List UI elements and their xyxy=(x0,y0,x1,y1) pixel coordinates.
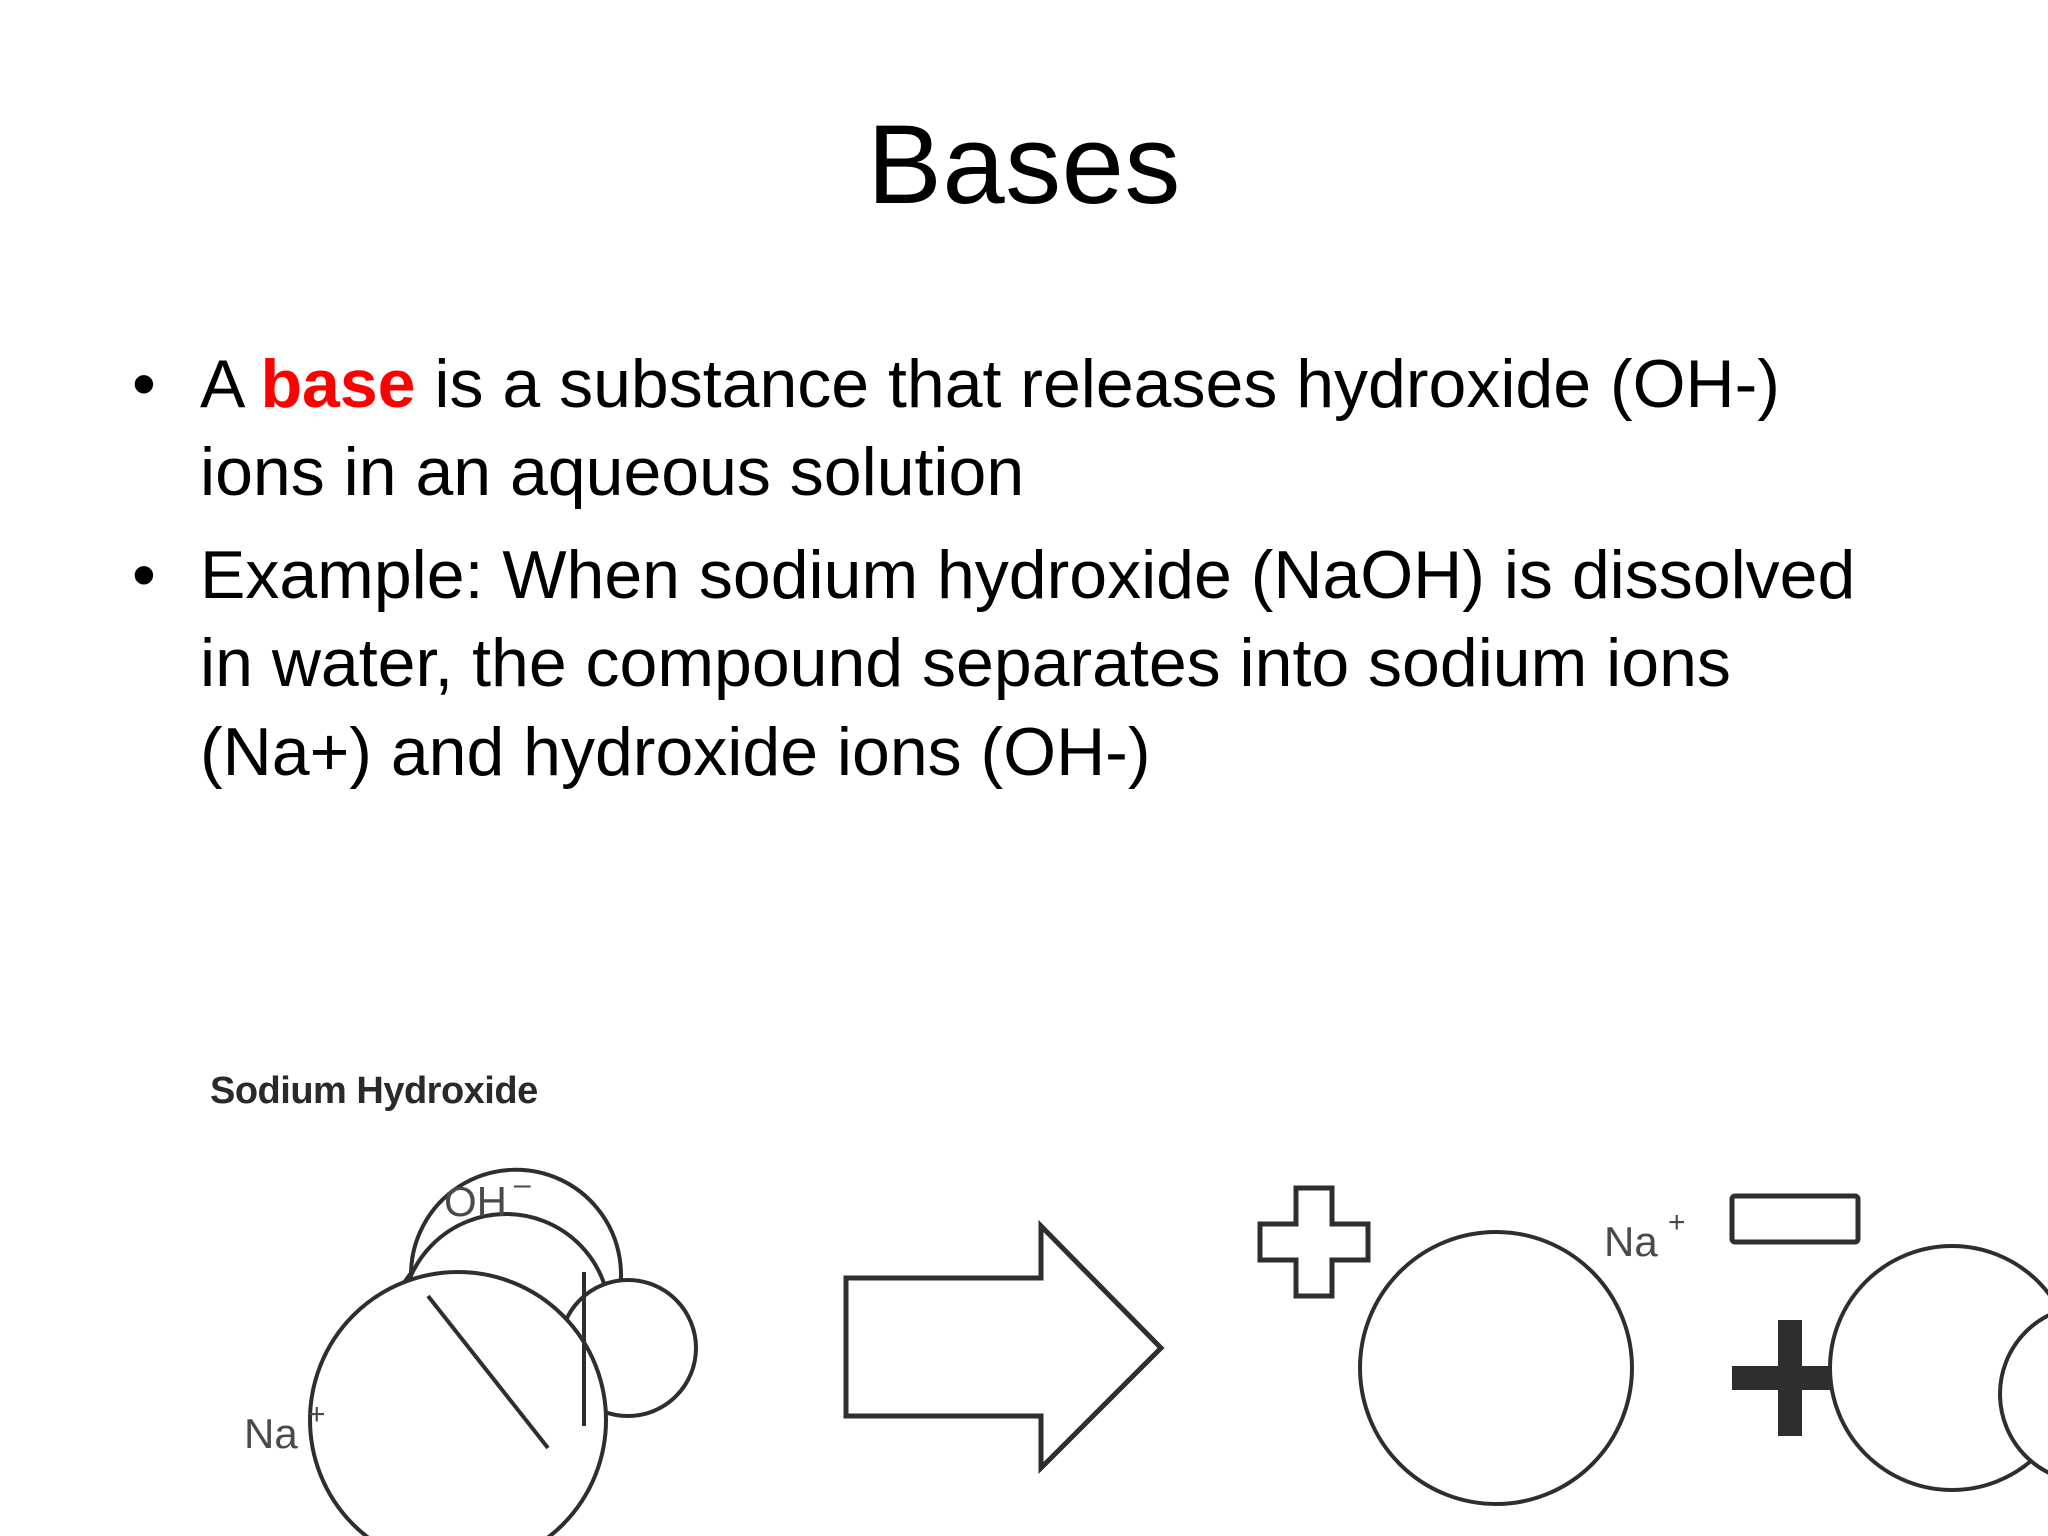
page-title: Bases xyxy=(0,108,2048,222)
bullet-list: • A base is a substance that releases hy… xyxy=(118,340,1948,810)
slide-bases: Bases • A base is a substance that relea… xyxy=(0,0,2048,1536)
na-label-product: Na xyxy=(1604,1218,1658,1265)
oh-charge-reactant: – xyxy=(514,1168,531,1201)
list-item: • Example: When sodium hydroxide (NaOH) … xyxy=(118,531,1948,796)
bullet-segment-highlight: base xyxy=(261,346,416,422)
bullet-text: A base is a substance that releases hydr… xyxy=(200,340,1860,517)
plus-charge-symbol-icon xyxy=(1260,1188,1368,1296)
reaction-arrow-icon xyxy=(846,1226,1161,1468)
bullet-marker: • xyxy=(118,340,200,428)
na-label-reactant: Na xyxy=(244,1410,298,1457)
na-charge-reactant: + xyxy=(308,1398,326,1431)
bullet-segment-rest: is a substance that releases hydroxide (… xyxy=(200,346,1780,510)
na-charge-product: + xyxy=(1668,1206,1686,1239)
bullet-segment-plain: A xyxy=(200,346,261,422)
sodium-atom-circle xyxy=(310,1272,606,1536)
oh-label-reactant: OH xyxy=(444,1178,507,1225)
minus-charge-symbol-icon xyxy=(1732,1196,1858,1242)
reaction-diagram: Sodium Hydroxide OH – Na + Na xyxy=(196,1048,2048,1536)
bullet-text: Example: When sodium hydroxide (NaOH) is… xyxy=(200,531,1860,796)
list-item: • A base is a substance that releases hy… xyxy=(118,340,1948,517)
bullet-marker: • xyxy=(118,531,200,619)
sodium-ion-circle xyxy=(1360,1232,1632,1504)
reaction-diagram-svg: OH – Na + Na + OH – xyxy=(196,1048,2048,1536)
